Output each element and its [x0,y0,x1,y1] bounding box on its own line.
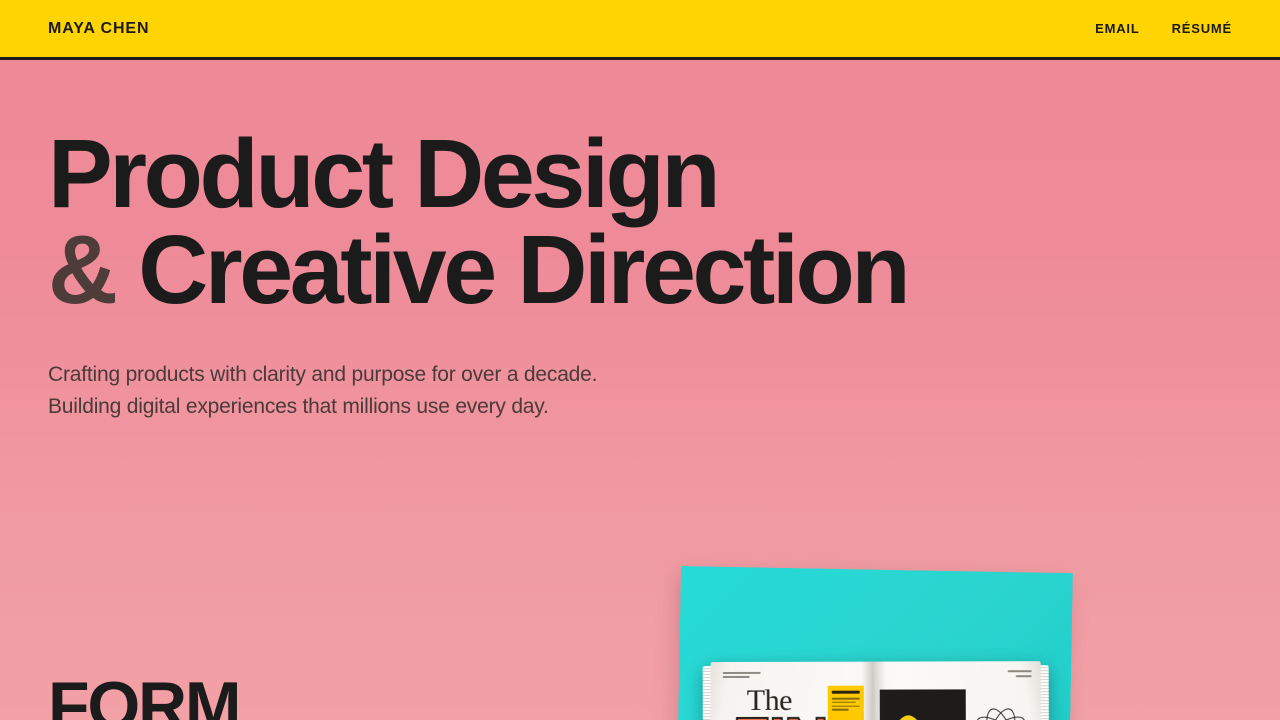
headline-ampersand: & [48,215,115,324]
page-root: MAYA CHEN EMAIL RÉSUMÉ Product Design & … [0,0,1280,720]
showcase-image-inner: The ZIN [675,566,1073,720]
atom-diagram-icon [970,705,1032,720]
nav-link-resume[interactable]: RÉSUMÉ [1172,21,1232,36]
magazine-page-right [874,661,1042,720]
magazine-yellow-column [828,686,865,720]
magazine-page-left: The ZIN [711,662,875,720]
section-heading-form: FORM [48,672,239,720]
pear-shape-icon [890,712,928,720]
headline-line-2: Creative Direction [138,215,907,324]
subtitle-line-1: Crafting products with clarity and purpo… [48,363,597,386]
hero-section: Product Design & Creative Direction Craf… [0,60,1280,423]
hero-subtitle: Crafting products with clarity and purpo… [48,359,1280,423]
page-block-right-icon [1040,665,1050,720]
page-number-text [998,670,1032,679]
headline-line-2-spacer [115,215,139,324]
headline-line-1: Product Design [48,119,717,228]
page-meta-text [723,672,765,680]
subtitle-line-2: Building digital experiences that millio… [48,395,549,418]
page-title: Product Design & Creative Direction [48,126,1280,318]
top-navbar: MAYA CHEN EMAIL RÉSUMÉ [0,0,1280,60]
brand-logo[interactable]: MAYA CHEN [48,20,149,38]
magazine-black-panel [880,689,967,720]
nav-links: EMAIL RÉSUMÉ [1095,21,1232,36]
magazine-word-zin: ZIN [733,710,827,720]
open-magazine: The ZIN [711,661,1042,720]
nav-link-email[interactable]: EMAIL [1095,21,1139,36]
magazine-spine [862,662,887,720]
showcase-image[interactable]: The ZIN [681,566,1073,720]
